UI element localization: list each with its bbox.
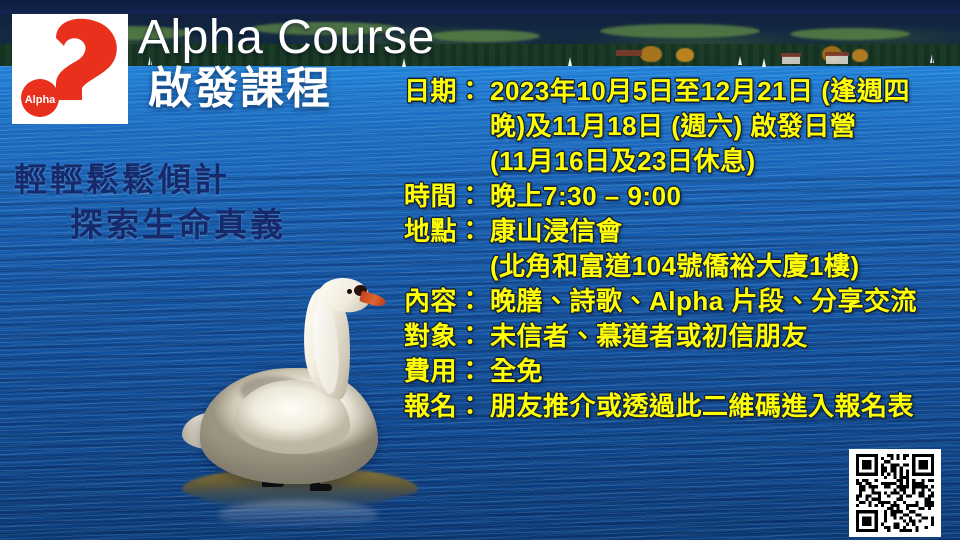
detail-value-venue-address: (北角和富道104號僑裕大廈1樓)	[404, 249, 956, 284]
swan-eye	[347, 289, 352, 294]
detail-row-registration: 報名： 朋友推介或透過此二維碼進入報名表	[404, 389, 956, 424]
swan-reflection	[218, 500, 378, 530]
detail-label-date: 日期：	[404, 74, 490, 109]
detail-value-audience: 未信者、慕道者或初信朋友	[490, 319, 956, 354]
slogan: 輕輕鬆鬆傾計 探索生命真義	[14, 158, 286, 247]
detail-label-fee: 費用：	[404, 354, 490, 389]
detail-label-audience: 對象：	[404, 319, 490, 354]
qr-code-image[interactable]	[854, 454, 936, 532]
detail-row-audience: 對象： 未信者、慕道者或初信朋友	[404, 319, 956, 354]
detail-row-date: 日期： 2023年10月5日至12月21日 (逢週四	[404, 74, 956, 109]
alpha-logo-wordmark: Alpha	[25, 94, 56, 106]
meadow-patch	[790, 28, 910, 40]
detail-row-venue: 地點： 康山浸信會	[404, 214, 956, 249]
detail-row-date-cont-2: (11月16日及23日休息)	[404, 144, 956, 179]
sailboat	[568, 57, 572, 66]
sailboat	[762, 58, 766, 67]
detail-row-fee: 費用： 全免	[404, 354, 956, 389]
slogan-line-2: 探索生命真義	[14, 203, 286, 248]
autumn-tree	[676, 48, 694, 62]
lakeside-building-roof	[781, 53, 801, 57]
detail-value-fee: 全免	[490, 354, 956, 389]
detail-row-content: 內容： 晚膳、詩歌、Alpha 片段、分享交流	[404, 284, 956, 319]
detail-value-content: 晚膳、詩歌、Alpha 片段、分享交流	[490, 284, 956, 319]
detail-label-time: 時間：	[404, 179, 490, 214]
detail-label-registration: 報名：	[404, 389, 490, 424]
alpha-logo-mark: Alpha	[12, 14, 128, 124]
swan-illustration	[178, 272, 426, 540]
slogan-line-1: 輕輕鬆鬆傾計	[14, 161, 230, 198]
meadow-patch	[600, 24, 760, 38]
autumn-tree	[640, 46, 662, 62]
sailboat-mast	[932, 54, 933, 65]
detail-row-date-cont-1: 晚)及11月18日 (週六) 啟發日營	[404, 109, 956, 144]
alpha-course-poster: Alpha Alpha Course 啟發課程 輕輕鬆鬆傾計 探索生命真義 日期…	[0, 0, 960, 540]
detail-value-date-cont-2: (11月16日及23日休息)	[404, 144, 956, 179]
detail-row-venue-address: (北角和富道104號僑裕大廈1樓)	[404, 249, 956, 284]
detail-value-date-cont-1: 晚)及11月18日 (週六) 啟發日營	[404, 109, 956, 144]
detail-label-venue: 地點：	[404, 214, 490, 249]
swan-foot	[310, 484, 332, 491]
autumn-tree	[852, 49, 868, 62]
page-title-english: Alpha Course	[138, 14, 435, 62]
detail-value-venue: 康山浸信會	[490, 214, 956, 249]
registration-qr-code[interactable]	[849, 449, 941, 537]
meadow-patch	[430, 30, 540, 42]
detail-value-date: 2023年10月5日至12月21日 (逢週四	[490, 74, 956, 109]
lakeside-building	[826, 55, 848, 64]
event-details: 日期： 2023年10月5日至12月21日 (逢週四 晚)及11月18日 (週六…	[404, 74, 956, 424]
detail-label-content: 內容：	[404, 284, 490, 319]
detail-value-registration: 朋友推介或透過此二維碼進入報名表	[490, 389, 956, 424]
sailboat	[738, 56, 742, 65]
detail-row-time: 時間： 晚上7:30 – 9:00	[404, 179, 956, 214]
lakeside-building-roof	[616, 50, 642, 56]
page-title-chinese: 啟發課程	[148, 66, 332, 112]
lakeside-building	[782, 56, 800, 64]
detail-value-time: 晚上7:30 – 9:00	[490, 179, 956, 214]
lakeside-building-roof	[825, 52, 849, 56]
alpha-logo: Alpha	[12, 14, 128, 124]
